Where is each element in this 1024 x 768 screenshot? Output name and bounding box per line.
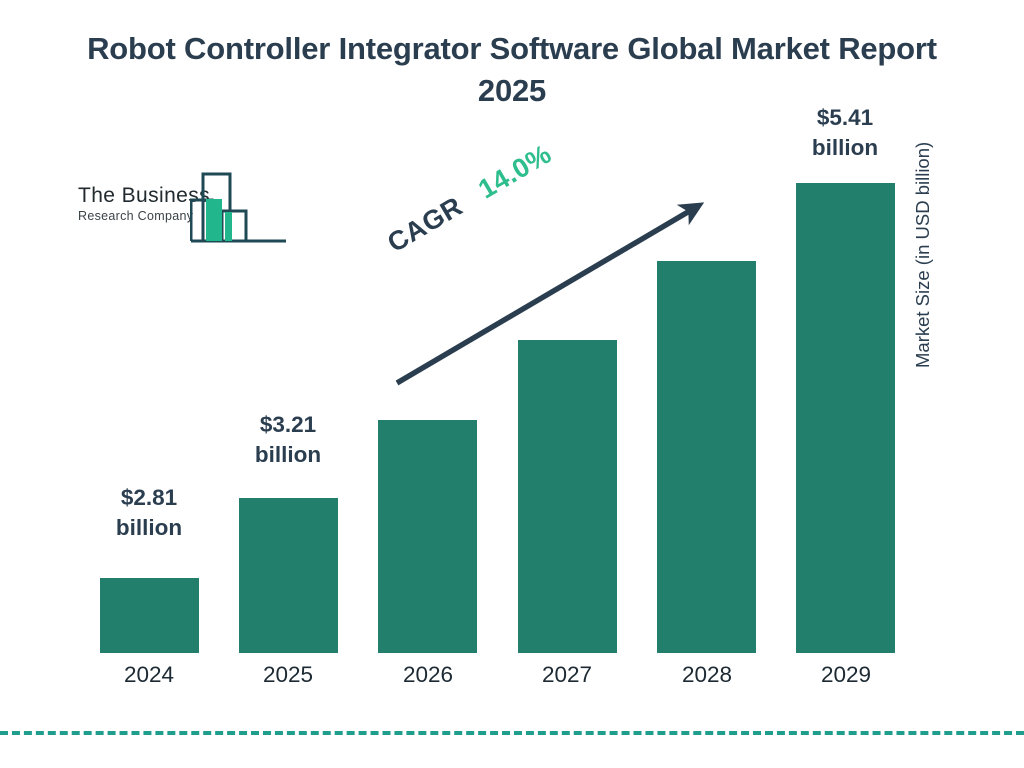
bar-value-unit: billion — [89, 513, 209, 543]
bar-value-amount: $2.81 — [89, 483, 209, 513]
bar-2024 — [100, 578, 199, 653]
bar-value-unit: billion — [228, 440, 348, 470]
x-tick-2028: 2028 — [647, 662, 767, 688]
x-tick-2027: 2027 — [507, 662, 627, 688]
bar-value-label-2029: $5.41 billion — [785, 103, 905, 162]
chart-canvas: Robot Controller Integrator Software Glo… — [0, 0, 1024, 768]
x-tick-2024: 2024 — [89, 662, 209, 688]
bar-2025 — [239, 498, 338, 653]
bar-value-unit: billion — [785, 133, 905, 163]
footer-divider — [0, 731, 1024, 735]
y-axis-title: Market Size (in USD billion) — [912, 48, 934, 368]
bar-value-amount: $5.41 — [785, 103, 905, 133]
bar-value-amount: $3.21 — [228, 410, 348, 440]
bar-2026 — [378, 420, 477, 653]
x-tick-2025: 2025 — [228, 662, 348, 688]
x-tick-2029: 2029 — [786, 662, 906, 688]
bar-2029 — [796, 183, 895, 653]
bar-value-label-2024: $2.81 billion — [89, 483, 209, 542]
x-tick-2026: 2026 — [368, 662, 488, 688]
bar-value-label-2025: $3.21 billion — [228, 410, 348, 469]
